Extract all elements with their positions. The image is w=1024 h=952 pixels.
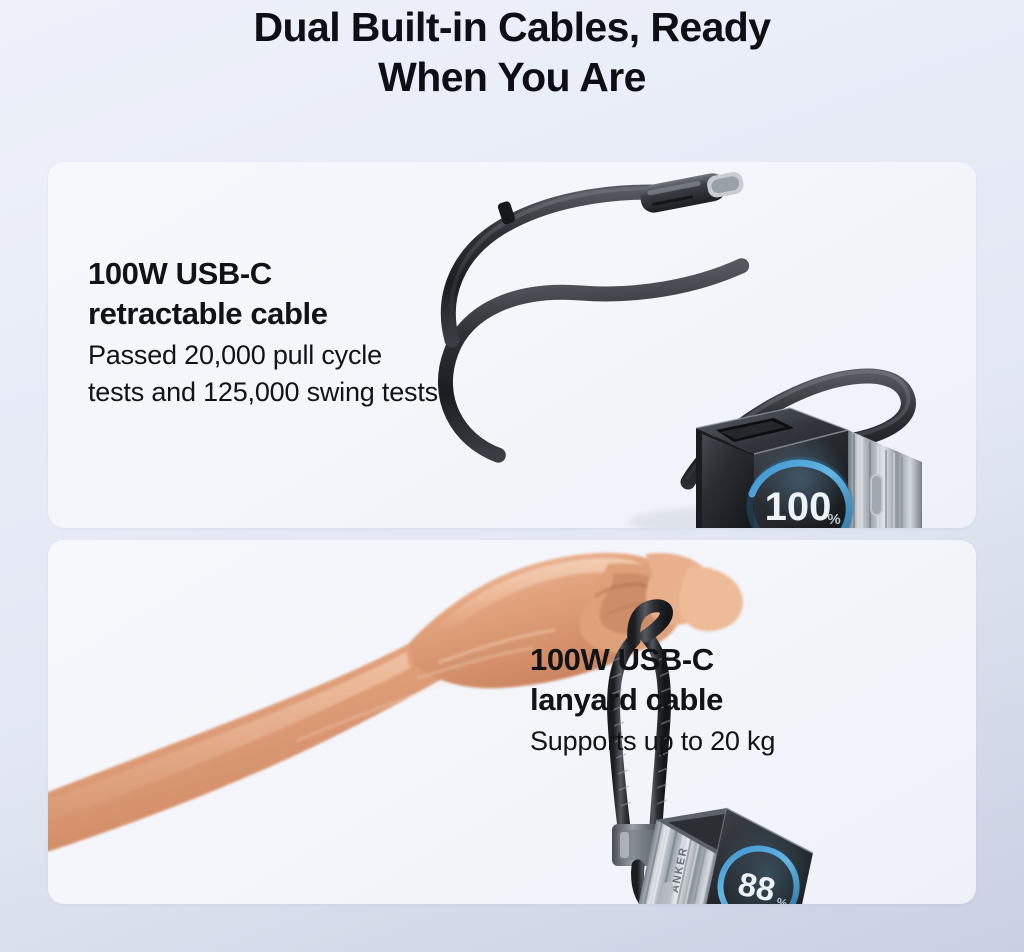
battery-percent-value-bottom: 88 (735, 865, 779, 904)
retractable-title-line-2: retractable cable (88, 294, 608, 334)
feature-panel-retractable-cable: 100 % 100W USB-C retractable cable Passe… (48, 162, 976, 528)
retractable-cable-text: 100W USB-C retractable cable Passed 20,0… (88, 254, 608, 411)
lanyard-cable-text: 100W USB-C lanyard cable Supports up to … (530, 640, 960, 760)
feature-panel-lanyard-cable: ANKER 88 % (48, 540, 976, 904)
headline-line-1: Dual Built-in Cables, Ready (0, 2, 1024, 52)
battery-percent-unit-bottom: % (775, 895, 789, 904)
lanyard-subtitle-line-1: Supports up to 20 kg (530, 723, 960, 760)
lanyard-title-line-1: 100W USB-C (530, 640, 960, 680)
battery-percent-unit-top: % (827, 511, 840, 528)
retractable-subtitle-line-1: Passed 20,000 pull cycle (88, 337, 608, 374)
retractable-title-line-1: 100W USB-C (88, 254, 608, 294)
retractable-subtitle-line-2: tests and 125,000 swing tests (88, 374, 608, 411)
battery-percent-value-top: 100 (765, 485, 832, 528)
headline-line-2: When You Are (0, 52, 1024, 102)
page-title: Dual Built-in Cables, Ready When You Are (0, 2, 1024, 102)
lanyard-title-line-2: lanyard cable (530, 680, 960, 720)
